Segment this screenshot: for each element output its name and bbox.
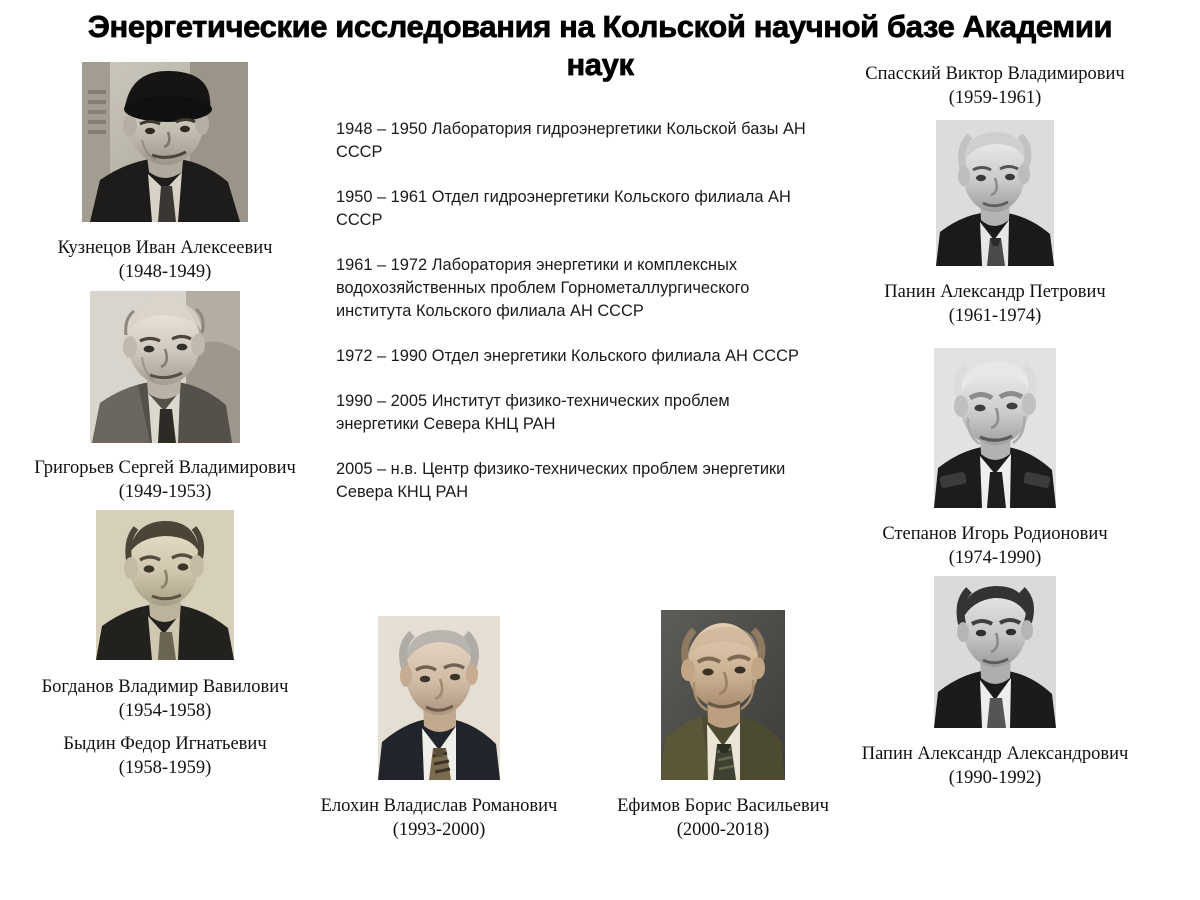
person-card-bogdanov: Богданов Владимир Вавилович (1954-1958) — [0, 510, 330, 723]
person-years: (1949-1953) — [0, 480, 330, 504]
portrait-papin — [934, 576, 1056, 728]
timeline-list: 1948 – 1950 Лаборатория гидроэнергетики … — [336, 118, 806, 504]
portrait-efimov — [661, 610, 785, 780]
person-name: Богданов Владимир Вавилович — [0, 675, 330, 699]
portrait-kuznetsov — [82, 62, 248, 222]
person-name: Панин Александр Петрович — [790, 280, 1200, 304]
person-card-elokhin: Елохин Владислав Романович (1993-2000) — [294, 616, 584, 842]
person-years: (2000-2018) — [578, 818, 868, 842]
person-card-spassky: Спасский Виктор Владимирович (1959-1961) — [790, 62, 1200, 110]
person-card-panin: Панин Александр Петрович (1961-1974) — [790, 120, 1200, 328]
person-years: (1948-1949) — [0, 260, 330, 284]
timeline-item: 1950 – 1961 Отдел гидроэнергетики Кольск… — [336, 186, 806, 232]
timeline-item: 1961 – 1972 Лаборатория энергетики и ком… — [336, 254, 806, 323]
timeline-item: 1948 – 1950 Лаборатория гидроэнергетики … — [336, 118, 806, 164]
portrait-grigoriev — [90, 291, 240, 443]
timeline-item: 1972 – 1990 Отдел энергетики Кольского ф… — [336, 345, 806, 368]
portrait-elokhin — [378, 616, 500, 780]
person-name: Степанов Игорь Родионович — [790, 522, 1200, 546]
person-card-efimov: Ефимов Борис Васильевич (2000-2018) — [578, 610, 868, 842]
person-card-grigoriev: Григорьев Сергей Владимирович (1949-1953… — [0, 291, 330, 504]
person-years: (1959-1961) — [790, 86, 1200, 110]
person-name: Спасский Виктор Владимирович — [790, 62, 1200, 86]
timeline-item: 1990 – 2005 Институт физико-технических … — [336, 390, 806, 436]
person-name: Елохин Владислав Романович — [294, 794, 584, 818]
person-years: (1954-1958) — [0, 699, 330, 723]
person-card-stepanov: Степанов Игорь Родионович (1974-1990) — [790, 348, 1200, 570]
person-name: Григорьев Сергей Владимирович — [0, 456, 330, 480]
person-years: (1993-2000) — [294, 818, 584, 842]
person-years: (1961-1974) — [790, 304, 1200, 328]
person-name: Кузнецов Иван Алексеевич — [0, 236, 330, 260]
person-card-bydin: Быдин Федор Игнатьевич (1958-1959) — [0, 732, 330, 780]
person-name: Быдин Федор Игнатьевич — [0, 732, 330, 756]
person-card-kuznetsov: Кузнецов Иван Алексеевич (1948-1949) — [0, 62, 330, 284]
timeline-item: 2005 – н.в. Центр физико-технических про… — [336, 458, 806, 504]
slide-canvas: Энергетические исследования на Кольской … — [0, 0, 1200, 900]
person-name: Ефимов Борис Васильевич — [578, 794, 868, 818]
portrait-stepanov — [934, 348, 1056, 508]
person-years: (1974-1990) — [790, 546, 1200, 570]
portrait-panin — [936, 120, 1054, 266]
person-years: (1958-1959) — [0, 756, 330, 780]
portrait-bogdanov — [96, 510, 234, 660]
